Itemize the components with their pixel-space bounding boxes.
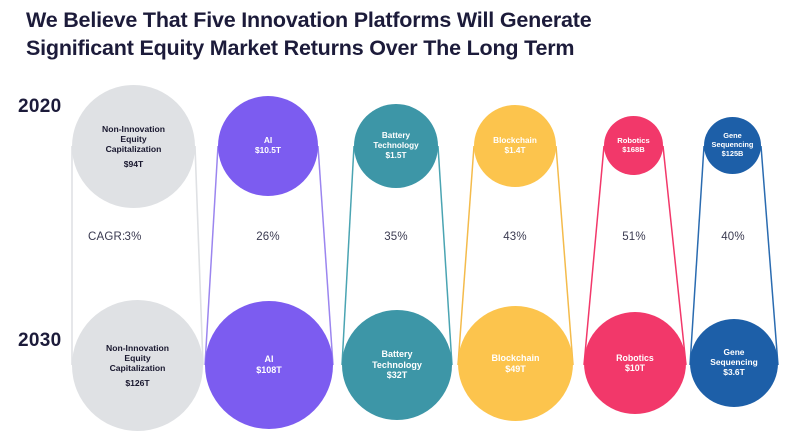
bubble-value: $125B — [722, 150, 744, 159]
bubble-2030-battery-technology[interactable]: Battery Technology $32T — [342, 310, 452, 420]
bubble-label-line-1: AI — [265, 354, 274, 365]
bubble-2030-gene-sequencing[interactable]: Gene Sequencing $3.6T — [690, 319, 778, 407]
bubble-2020-blockchain[interactable]: Blockchain $1.4T — [474, 105, 556, 187]
bubble-label-line-1: Non-Innovation — [102, 124, 165, 134]
cagr-value-robotics: 51% — [614, 231, 654, 243]
bubble-label-line-2: Technology — [373, 141, 418, 151]
bubble-2030-non-innovation[interactable]: Non-Innovation Equity Capitalization $12… — [72, 300, 203, 431]
cagr-value-blockchain: 43% — [495, 231, 535, 243]
bubble-2020-robotics[interactable]: Robotics $168B — [604, 116, 663, 175]
bubble-label-line-3: Capitalization — [110, 363, 166, 373]
bubble-value: $126T — [125, 378, 149, 388]
bubble-2030-robotics[interactable]: Robotics $10T — [584, 312, 686, 414]
cagr-value-non-innovation: 3% — [113, 231, 153, 243]
bubble-value: $10T — [625, 363, 645, 373]
bubble-label-line-1: Robotics — [616, 353, 654, 363]
bubble-label-line-2: Technology — [372, 360, 422, 371]
bubble-label-line-1: Battery — [381, 349, 412, 360]
bubble-label-line-2: Equity — [120, 134, 146, 144]
bubble-2030-ai[interactable]: AI $108T — [205, 301, 333, 429]
bubble-value: $94T — [124, 159, 144, 169]
bubble-value: $168B — [622, 146, 644, 155]
bubble-value: $49T — [505, 364, 526, 375]
bubble-2020-non-innovation[interactable]: Non-Innovation Equity Capitalization $94… — [72, 85, 195, 208]
bubble-label-line-1: Blockchain — [491, 353, 539, 364]
cagr-value-battery-technology: 35% — [376, 231, 416, 243]
bubble-2030-blockchain[interactable]: Blockchain $49T — [458, 306, 573, 421]
bubble-label-line-2: Equity — [124, 353, 150, 363]
cagr-value-ai: 26% — [248, 231, 288, 243]
bubble-value: $1.5T — [386, 151, 407, 161]
bubble-2020-ai[interactable]: AI $10.5T — [218, 96, 318, 196]
bubble-label-line-1: Non-Innovation — [106, 343, 169, 353]
bubble-value: $1.4T — [505, 146, 526, 156]
bubble-value: $3.6T — [723, 368, 744, 378]
bubble-2020-gene-sequencing[interactable]: Gene Sequencing $125B — [704, 117, 761, 174]
bubble-value: $108T — [256, 365, 282, 376]
bubble-label-line-1: Blockchain — [493, 136, 537, 146]
infographic-canvas: We Believe That Five Innovation Platform… — [0, 0, 796, 436]
bubble-label-line-3: Capitalization — [106, 144, 162, 154]
bubble-2020-battery-technology[interactable]: Battery Technology $1.5T — [354, 104, 438, 188]
bubble-value: $32T — [387, 370, 408, 381]
bubble-value: $10.5T — [255, 146, 281, 156]
cagr-value-gene-sequencing: 40% — [713, 231, 753, 243]
bubble-label-line-1: Battery — [382, 131, 410, 141]
